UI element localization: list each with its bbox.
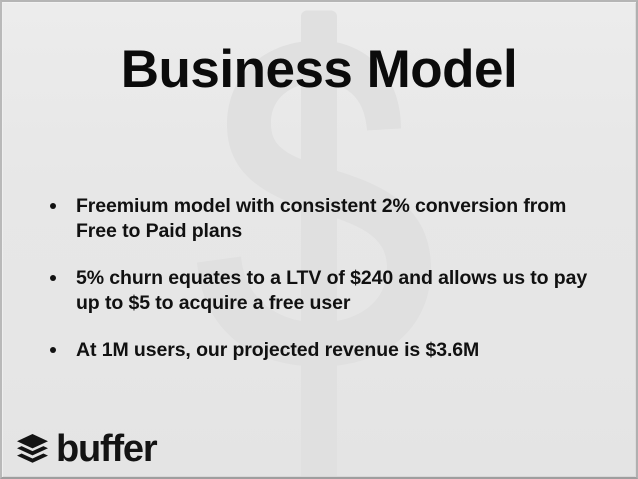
- buffer-wordmark: buffer: [56, 433, 156, 465]
- buffer-stacked-layers-icon: [16, 433, 49, 465]
- bullet-dot-icon: [46, 266, 76, 281]
- list-item: Freemium model with consistent 2% conver…: [46, 194, 606, 244]
- buffer-logo: buffer: [16, 433, 156, 465]
- list-item: At 1M users, our projected revenue is $3…: [46, 338, 606, 363]
- bullet-text: Freemium model with consistent 2% conver…: [76, 194, 606, 244]
- bullet-text: At 1M users, our projected revenue is $3…: [76, 338, 606, 363]
- page-title: Business Model: [2, 42, 636, 98]
- presentation-slide: Business Model Freemium model with consi…: [0, 0, 638, 479]
- bullet-text: 5% churn equates to a LTV of $240 and al…: [76, 266, 606, 316]
- list-item: 5% churn equates to a LTV of $240 and al…: [46, 266, 606, 316]
- bullet-list: Freemium model with consistent 2% conver…: [46, 194, 606, 363]
- bullet-dot-icon: [46, 194, 76, 209]
- bullet-dot-icon: [46, 338, 76, 353]
